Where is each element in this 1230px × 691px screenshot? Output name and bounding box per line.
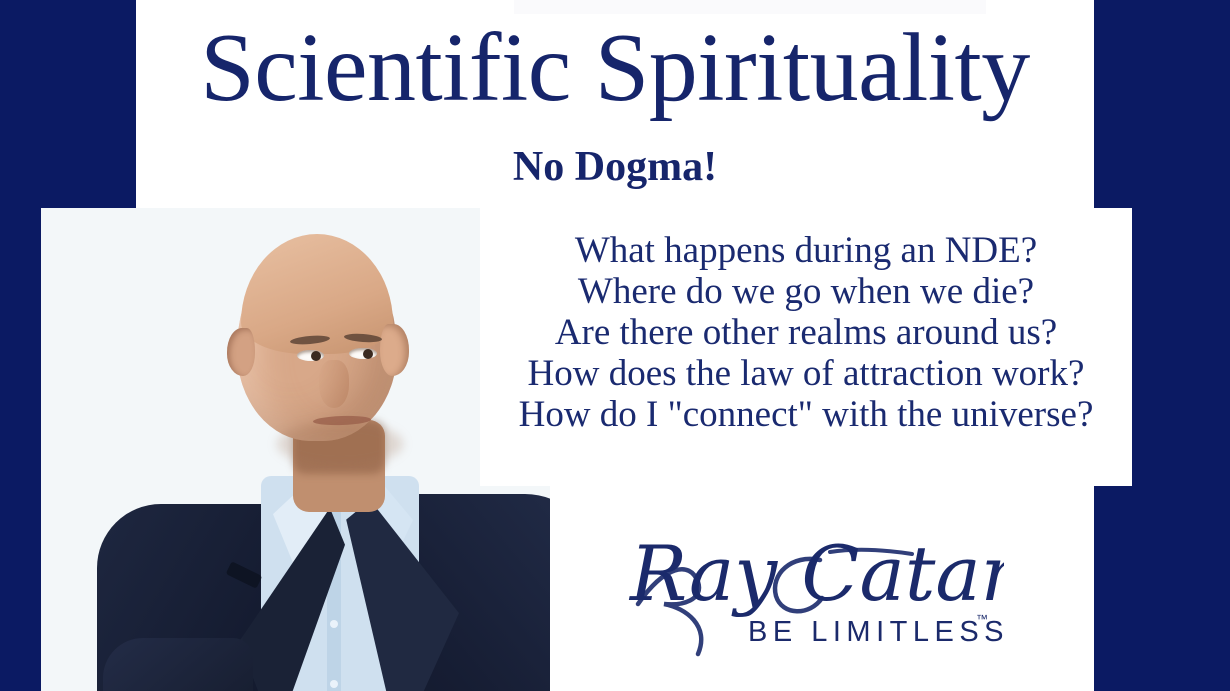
pupil-left [311, 351, 321, 361]
question-line: What happens during an NDE? [480, 230, 1132, 271]
trademark-symbol: ™ [976, 612, 988, 626]
logo-tagline: BE LIMITLESS [748, 616, 1009, 649]
cropped-top-sliver [514, 0, 986, 14]
portrait-image [41, 208, 550, 691]
headline-panel: Scientific Spirituality No Dogma! [136, 0, 1094, 208]
ear-right [380, 324, 409, 376]
shirt-button [330, 680, 338, 688]
brand-logo: Ray Catania BE LIMITLESS ™ [624, 508, 1004, 668]
question-line: Are there other realms around us? [480, 312, 1132, 353]
chin-shadow [277, 422, 403, 466]
question-line: How do I "connect" with the universe? [480, 394, 1132, 435]
nose [319, 360, 349, 408]
page-subtitle: No Dogma! [136, 144, 1094, 190]
portrait-card [41, 208, 550, 691]
question-line: How does the law of attraction work? [480, 353, 1132, 394]
suit-sleeve [103, 638, 253, 691]
pupil-right [363, 349, 373, 359]
ear-left [227, 328, 255, 376]
questions-list: What happens during an NDE? Where do we … [480, 230, 1132, 435]
page-title: Scientific Spirituality [136, 16, 1094, 122]
questions-card: What happens during an NDE? Where do we … [480, 208, 1132, 486]
question-line: Where do we go when we die? [480, 271, 1132, 312]
slide-canvas: Scientific Spirituality No Dogma! [0, 0, 1230, 691]
shirt-button [330, 620, 338, 628]
